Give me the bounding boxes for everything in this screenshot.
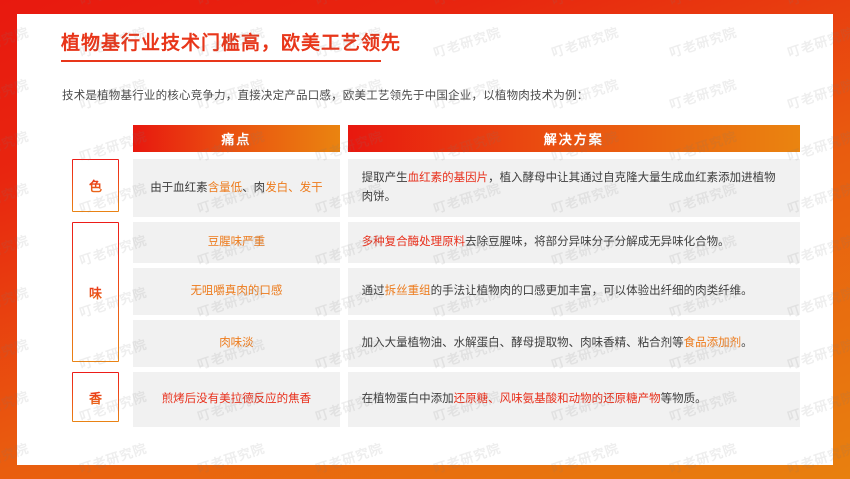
title-block: 植物基行业技术门槛高，欧美工艺领先 <box>61 31 781 62</box>
category-label: 味 <box>89 283 102 302</box>
column-header-solution: 解决方案 <box>348 125 800 152</box>
pain-segment: 、肉 <box>242 182 265 194</box>
solution-segment: 多种复合酶处理原料 <box>362 236 466 248</box>
solution-segment: 去除豆腥味，将部分异味分子分解成无异味化合物。 <box>465 236 730 248</box>
slide-content-card: 植物基行业技术门槛高，欧美工艺领先 技术是植物基行业的核心竞争力，直接决定产品口… <box>17 14 833 465</box>
category-box-色: 色 <box>72 159 119 212</box>
table-row: 由于血红素含量低、肉发白、发干提取产生血红素的基因片，植入酵母中让其通过自克隆大… <box>133 159 800 217</box>
watermark-text: 叮老研究院 <box>785 0 850 9</box>
category-box-香: 香 <box>72 372 119 422</box>
cell-gap <box>340 320 348 367</box>
cell-solution: 通过拆丝重组的手法让植物肉的口感更加丰富，可以体验出纤细的肉类纤维。 <box>348 268 800 315</box>
slide-frame: 叮老研究院叮老研究院叮老研究院叮老研究院叮老研究院叮老研究院叮老研究院叮老研究院… <box>0 0 850 479</box>
solution-segment: 提取产生 <box>362 172 408 184</box>
table-row: 煎烤后没有美拉德反应的焦香在植物蛋白中添加还原糖、风味氨基酸和动物的还原糖产物等… <box>133 372 800 427</box>
solution-segment: 。 <box>741 337 753 349</box>
solution-segment: 血红素的基因片 <box>408 172 489 184</box>
watermark-text: 叮老研究院 <box>431 0 503 9</box>
category-label: 香 <box>89 388 102 407</box>
watermark-text: 叮老研究院 <box>0 0 31 9</box>
solution-segment: 食品添加剂 <box>684 337 742 349</box>
cell-pain: 由于血红素含量低、肉发白、发干 <box>133 159 340 217</box>
comparison-table: 痛点 解决方案 色味香 由于血红素含量低、肉发白、发干提取产生血红素的基因片，植… <box>55 125 800 432</box>
solution-segment: 等物质。 <box>661 393 707 405</box>
solution-segment: 拆丝重组 <box>385 285 431 297</box>
cell-gap <box>340 222 348 263</box>
cell-pain: 豆腥味严重 <box>133 222 340 263</box>
watermark-text: 叮老研究院 <box>195 0 267 9</box>
intro-paragraph: 技术是植物基行业的核心竞争力，直接决定产品口感，欧美工艺领先于中国企业，以植物肉… <box>62 87 589 105</box>
title-underline <box>61 60 381 62</box>
watermark-text: 叮老研究院 <box>549 0 621 9</box>
cell-pain: 肉味淡 <box>133 320 340 367</box>
pain-segment: 肉味淡 <box>219 337 254 349</box>
table-row: 无咀嚼真肉的口感通过拆丝重组的手法让植物肉的口感更加丰富，可以体验出纤细的肉类纤… <box>133 268 800 315</box>
column-header-pain: 痛点 <box>133 125 340 152</box>
solution-segment: 的手法让植物肉的口感更加丰富，可以体验出纤细的肉类纤维。 <box>431 285 753 297</box>
table-rows: 由于血红素含量低、肉发白、发干提取产生血红素的基因片，植入酵母中让其通过自克隆大… <box>133 159 800 427</box>
cell-pain: 无咀嚼真肉的口感 <box>133 268 340 315</box>
table-row: 豆腥味严重多种复合酶处理原料去除豆腥味，将部分异味分子分解成无异味化合物。 <box>133 222 800 263</box>
pain-segment: 含量低 <box>208 182 243 194</box>
cell-solution: 在植物蛋白中添加还原糖、风味氨基酸和动物的还原糖产物等物质。 <box>348 372 800 427</box>
page-title: 植物基行业技术门槛高，欧美工艺领先 <box>61 31 781 57</box>
header-gap <box>340 125 348 152</box>
cell-solution: 提取产生血红素的基因片，植入酵母中让其通过自克隆大量生成血红素添加进植物肉饼。 <box>348 159 800 217</box>
watermark-text: 叮老研究院 <box>77 0 149 9</box>
cell-pain: 煎烤后没有美拉德反应的焦香 <box>133 372 340 427</box>
pain-segment: 煎烤后没有美拉德反应的焦香 <box>162 393 312 405</box>
table-body: 色味香 由于血红素含量低、肉发白、发干提取产生血红素的基因片，植入酵母中让其通过… <box>55 159 800 427</box>
cell-solution: 加入大量植物油、水解蛋白、酵母提取物、肉味香精、粘合剂等食品添加剂。 <box>348 320 800 367</box>
pain-segment: 豆腥味严重 <box>208 236 266 248</box>
category-label: 色 <box>89 176 102 195</box>
cell-gap <box>340 372 348 427</box>
pain-segment: 由于血红素 <box>150 182 208 194</box>
watermark-text: 叮老研究院 <box>313 0 385 9</box>
solution-segment: 加入大量植物油、水解蛋白、酵母提取物、肉味香精、粘合剂等 <box>362 337 684 349</box>
pain-segment: 无咀嚼真肉的口感 <box>190 285 282 297</box>
solution-segment: 通过 <box>362 285 385 297</box>
table-row: 肉味淡加入大量植物油、水解蛋白、酵母提取物、肉味香精、粘合剂等食品添加剂。 <box>133 320 800 367</box>
cell-gap <box>340 268 348 315</box>
cell-solution: 多种复合酶处理原料去除豆腥味，将部分异味分子分解成无异味化合物。 <box>348 222 800 263</box>
category-box-味: 味 <box>72 222 119 362</box>
cell-gap <box>340 159 348 217</box>
solution-segment: 在植物蛋白中添加 <box>362 393 454 405</box>
solution-segment: 还原糖、风味氨基酸和动物的还原糖产物 <box>454 393 661 405</box>
pain-segment: 发白、发干 <box>265 182 323 194</box>
table-header-row: 痛点 解决方案 <box>133 125 800 152</box>
watermark-text: 叮老研究院 <box>667 0 739 9</box>
